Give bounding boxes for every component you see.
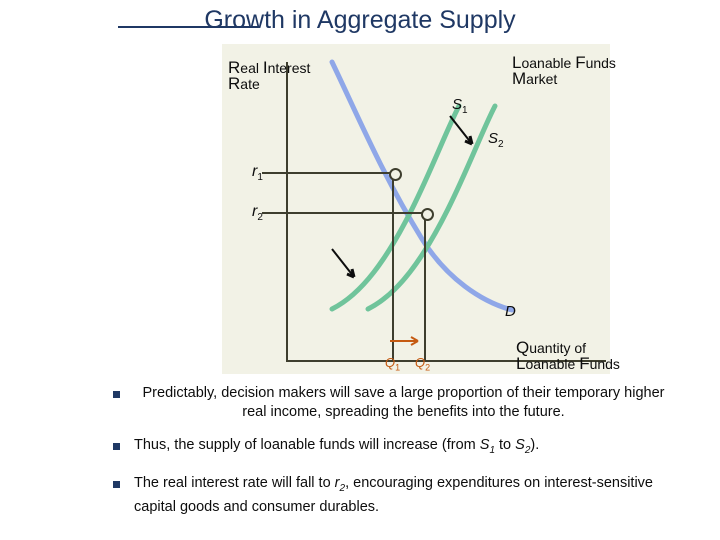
bullet-text-3: The real interest rate will fall to r2, … — [134, 474, 673, 517]
bullet-marker-icon — [113, 391, 120, 398]
quantity-label-q1: Q1 — [385, 355, 400, 373]
chart-y-axis — [286, 62, 288, 362]
market-title-label: Loanable Funds Market — [512, 55, 616, 87]
chart-curves — [222, 44, 610, 374]
y-axis-label: Real Interest Rate — [228, 60, 310, 92]
bullet-text-2: Thus, the supply of loanable funds will … — [134, 436, 539, 460]
list-item: Predictably, decision makers will save a… — [113, 384, 673, 422]
quantity-label-q2: Q2 — [415, 355, 430, 373]
list-item: The real interest rate will fall to r2, … — [113, 474, 673, 517]
curve-label-s1: S1 — [452, 96, 468, 116]
curve-label-d: D — [505, 303, 516, 320]
rate-label-r1: r1 — [252, 163, 263, 183]
bullet-marker-icon — [113, 443, 120, 450]
bullet-marker-icon — [113, 481, 120, 488]
curve-label-s2: S2 — [488, 130, 504, 150]
rate-label-r2: r2 — [252, 203, 263, 223]
title-underline-rule — [118, 26, 258, 28]
bullet-list: Predictably, decision makers will save a… — [0, 384, 720, 531]
equilibrium-point-1 — [389, 168, 402, 181]
page-title: Growth in Aggregate Supply — [0, 6, 720, 35]
x-axis-label: Quantity of Loanable Funds — [516, 340, 620, 372]
equilibrium-point-2 — [421, 208, 434, 221]
list-item: Thus, the supply of loanable funds will … — [113, 436, 673, 460]
bullet-text-1: Predictably, decision makers will save a… — [134, 384, 673, 422]
